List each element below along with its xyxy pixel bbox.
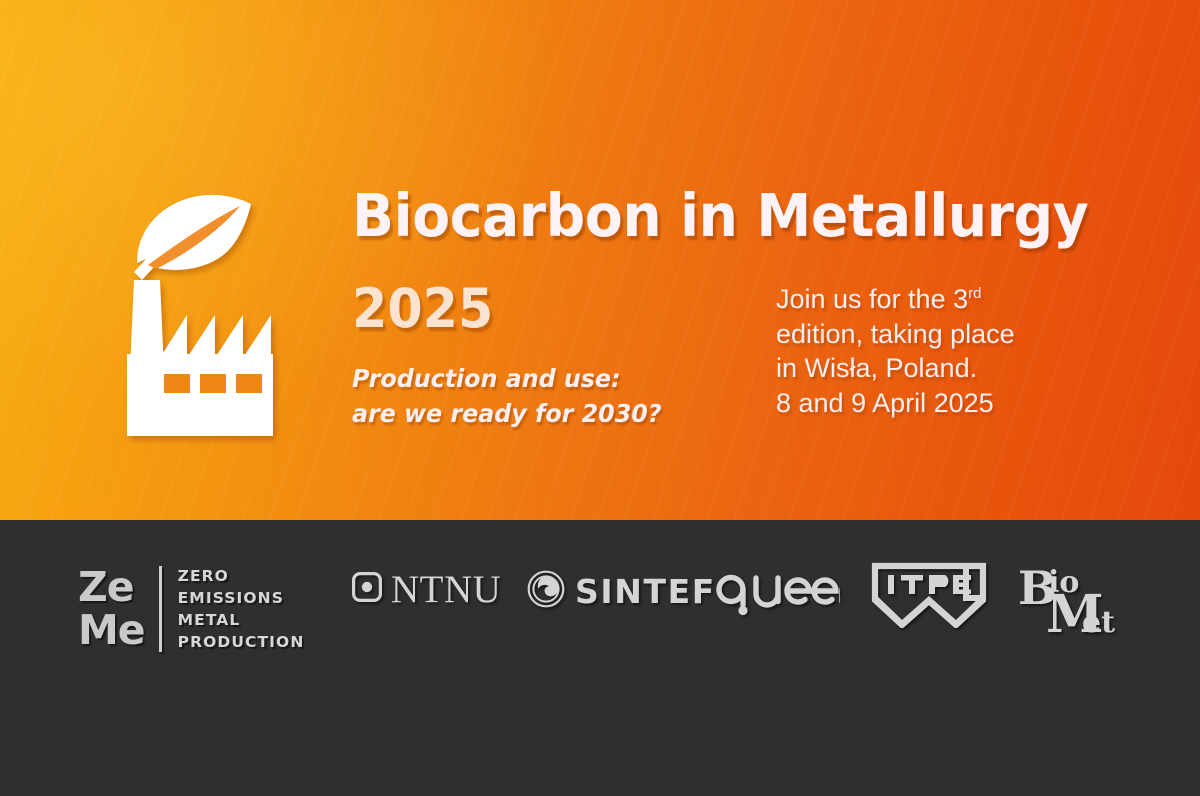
tagline-line-2: are we ready for 2030? xyxy=(352,397,662,432)
zeme-word-1: ZERO xyxy=(178,565,305,587)
sintef-wordmark: SINTEF xyxy=(575,575,716,608)
zeme-word-3: METAL xyxy=(178,609,305,631)
event-title: Biocarbon in Metallurgy xyxy=(352,186,1091,246)
zeme-divider xyxy=(159,566,162,652)
partner-logo-itpe[interactable] xyxy=(871,562,987,633)
zeme-monogram: Ze Me xyxy=(78,566,159,653)
zeme-word-4: PRODUCTION xyxy=(178,631,305,653)
partner-logo-biomet[interactable]: B io M et xyxy=(1018,556,1122,645)
factory-leaf-icon xyxy=(104,168,324,458)
event-info-block: Join us for the 3rd edition, taking plac… xyxy=(776,282,1116,420)
itpe-shield-icon xyxy=(871,615,987,632)
info-line-1: Join us for the 3rd xyxy=(776,282,1116,317)
svg-text:et: et xyxy=(1082,605,1115,640)
event-tagline: Production and use: are we ready for 203… xyxy=(352,362,662,431)
partners-footer: Ze Me ZERO EMISSIONS METAL PRODUCTION NT… xyxy=(0,520,1200,796)
biomet-wordmark-icon: B io M et xyxy=(1018,627,1122,644)
event-banner: Biocarbon in Metallurgy 2025 Production … xyxy=(0,0,1200,796)
partner-logo-queen[interactable] xyxy=(716,572,840,625)
info-line-3: in Wisła, Poland. xyxy=(776,351,1116,386)
partner-logo-sintef[interactable]: SINTEF xyxy=(527,570,716,613)
ntnu-wordmark: NTNU xyxy=(391,570,501,609)
event-year: 2025 xyxy=(352,282,493,336)
zeme-wordmark: ZERO EMISSIONS METAL PRODUCTION xyxy=(178,565,305,653)
zeme-monogram-line-2: Me xyxy=(78,609,145,652)
info-line-1-text: Join us for the 3 xyxy=(776,284,968,314)
event-title-block: Biocarbon in Metallurgy xyxy=(352,186,1142,246)
partner-logo-zeme[interactable]: Ze Me ZERO EMISSIONS METAL PRODUCTION xyxy=(78,565,304,653)
ntnu-square-dot-icon xyxy=(352,572,382,607)
zeme-word-2: EMISSIONS xyxy=(178,587,305,609)
info-line-2: edition, taking place xyxy=(776,317,1116,352)
ordinal-suffix: rd xyxy=(968,286,981,302)
zeme-monogram-line-1: Ze xyxy=(78,566,145,609)
info-line-4: 8 and 9 April 2025 xyxy=(776,386,1116,421)
partner-logo-ntnu[interactable]: NTNU xyxy=(352,570,501,609)
queen-wordmark-icon xyxy=(716,607,840,624)
tagline-line-1: Production and use: xyxy=(352,362,662,397)
sintef-swirl-icon xyxy=(527,570,565,613)
